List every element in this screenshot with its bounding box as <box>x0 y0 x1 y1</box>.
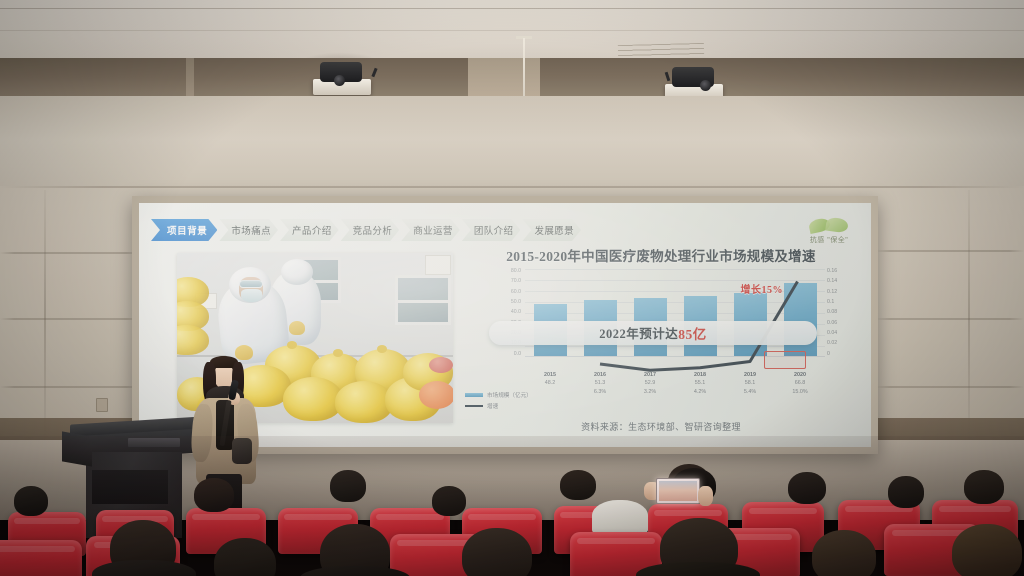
table-cell <box>534 388 567 396</box>
legend-item-growth: 增速 <box>465 402 532 410</box>
legend-item-market-size: 市场规模（亿元） <box>465 391 532 399</box>
axis-tick: 0.02 <box>827 341 853 346</box>
axis-tick: 0.14 <box>827 279 853 284</box>
wall-seam <box>968 190 970 440</box>
axis-tick: 80.0 <box>495 269 521 274</box>
audience-head <box>888 476 924 508</box>
wall-panel-line <box>0 318 140 320</box>
slide-tab-development-vision[interactable]: 发展愿景 <box>522 219 581 241</box>
tab-label: 市场痛点 <box>231 223 271 237</box>
legend-swatch-line <box>465 405 483 407</box>
table-cell: 2018 <box>684 371 717 379</box>
table-cell: 58.1 <box>734 379 767 387</box>
table-cell: 2019 <box>734 371 767 379</box>
chart-source-note: 资料来源：生态环境部、智研咨询整理 <box>461 420 861 433</box>
table-cell: 2020 <box>784 371 817 379</box>
audience-head <box>788 472 826 504</box>
ceiling <box>0 0 1024 62</box>
slide-chart: 2015-2020年中国医疗废物处理行业市场规模及增速 80.0 70.0 60… <box>461 245 861 435</box>
slide-tab-business-operations[interactable]: 商业运营 <box>401 219 460 241</box>
axis-tick: 0.1 <box>827 300 853 305</box>
seat <box>0 540 82 576</box>
axis-tick: 50.0 <box>495 300 521 305</box>
ceiling-seam <box>0 30 1024 31</box>
chart-legend: 市场规模（亿元） 增速 <box>465 391 532 413</box>
table-cell: 15.0% <box>784 388 817 396</box>
audience-head <box>330 470 366 502</box>
table-cell: 55.1 <box>684 379 717 387</box>
green-leaf-icon <box>809 217 849 233</box>
tab-label: 商业运营 <box>413 223 453 237</box>
tab-label: 项目背景 <box>167 223 207 237</box>
axis-tick: 0.0 <box>495 352 521 357</box>
slide-tab-market-painpoints[interactable]: 市场痛点 <box>219 219 278 241</box>
tab-label: 发展愿景 <box>534 223 574 237</box>
legend-label: 市场规模（亿元） <box>487 391 532 399</box>
table-cell: 51.3 <box>584 379 617 387</box>
wall-outlet <box>96 398 108 412</box>
legend-label: 增速 <box>487 402 498 410</box>
axis-tick: 0 <box>827 352 853 357</box>
tab-label: 竞品分析 <box>353 223 393 237</box>
table-cell: 6.3% <box>584 388 617 396</box>
audience-head <box>462 528 532 576</box>
axis-tick: 0.12 <box>827 290 853 295</box>
table-cell: 2017 <box>634 371 667 379</box>
wall-panel-line <box>876 318 1024 320</box>
photo-scene: 项目背景 市场痛点 产品介绍 竞品分析 商业运营 团队介绍 发展愿景 抗感 "保… <box>0 0 1024 576</box>
logo-text: 抗感 "保全" <box>810 235 848 245</box>
slide-tab-team-intro[interactable]: 团队介绍 <box>462 219 521 241</box>
audience-head <box>14 486 48 516</box>
audience-head <box>560 470 596 500</box>
audience-head <box>194 478 234 512</box>
soffit-segment <box>186 58 194 98</box>
callout-2022-forecast: 2022年预计达85亿 <box>489 321 817 345</box>
table-row-market-size: 48.2 51.3 52.9 55.1 58.1 66.8 <box>525 379 825 387</box>
ceiling-seam <box>0 8 1024 9</box>
table-cell: 2016 <box>584 371 617 379</box>
axis-tick: 0.06 <box>827 321 853 326</box>
highlight-box-2020 <box>764 351 806 369</box>
table-cell: 2015 <box>534 371 567 379</box>
table-cell: 48.2 <box>534 379 567 387</box>
callout-highlight: 85亿 <box>678 323 707 343</box>
chart-plot-area: 80.0 70.0 60.0 50.0 40.0 30.0 20.0 10.0 … <box>467 269 855 369</box>
audience-shoulders <box>592 500 648 534</box>
axis-tick: 0.04 <box>827 331 853 336</box>
slide-tab-project-background[interactable]: 项目背景 <box>151 219 217 241</box>
audience-head <box>952 524 1022 576</box>
tab-label: 产品介绍 <box>292 223 332 237</box>
brand-logo: 抗感 "保全" <box>793 213 865 249</box>
chart-y-axis-right: 0.16 0.14 0.12 0.1 0.08 0.06 0.04 0.02 0 <box>827 269 853 357</box>
callout-prefix: 2022年预计达 <box>599 323 678 342</box>
wall-panel-line <box>876 250 1024 252</box>
slide-tab-product-intro[interactable]: 产品介绍 <box>280 219 339 241</box>
axis-tick: 70.0 <box>495 279 521 284</box>
table-cell: 3.2% <box>634 388 667 396</box>
table-cell: 5.4% <box>734 388 767 396</box>
table-cell: 52.9 <box>634 379 667 387</box>
audience-head <box>964 470 1004 504</box>
wall-panel-line <box>876 386 1024 388</box>
axis-tick: 60.0 <box>495 290 521 295</box>
table-row-growth-rate: 6.3% 3.2% 4.2% 5.4% 15.0% <box>525 388 825 396</box>
wall-upper <box>0 96 1024 192</box>
axis-tick: 0.16 <box>827 269 853 274</box>
table-row-years: 2015 2016 2017 2018 2019 2020 <box>525 371 825 379</box>
wall-panel-line <box>0 186 1024 188</box>
tab-label: 团队介绍 <box>474 223 514 237</box>
axis-tick: 0.08 <box>827 310 853 315</box>
slide-tab-competitor-analysis[interactable]: 竞品分析 <box>341 219 400 241</box>
ceiling-vent <box>618 43 704 59</box>
table-cell: 66.8 <box>784 379 817 387</box>
legend-swatch-bar <box>465 393 483 397</box>
wall-seam <box>44 190 46 440</box>
slide-nav-tabs: 项目背景 市场痛点 产品介绍 竞品分析 商业运营 团队介绍 发展愿景 <box>151 217 861 243</box>
hand <box>698 486 713 506</box>
audience-head <box>432 486 466 516</box>
table-cell: 4.2% <box>684 388 717 396</box>
soffit-segment <box>468 58 540 98</box>
wall-panel-line <box>0 386 140 388</box>
audience-head <box>812 530 876 576</box>
phone-recording[interactable] <box>656 478 700 504</box>
axis-tick: 40.0 <box>495 310 521 315</box>
chart-title: 2015-2020年中国医疗废物处理行业市场规模及增速 <box>467 249 855 265</box>
annotation-growth-rate: 增长15% <box>741 281 784 296</box>
wall-panel-line <box>0 252 140 254</box>
